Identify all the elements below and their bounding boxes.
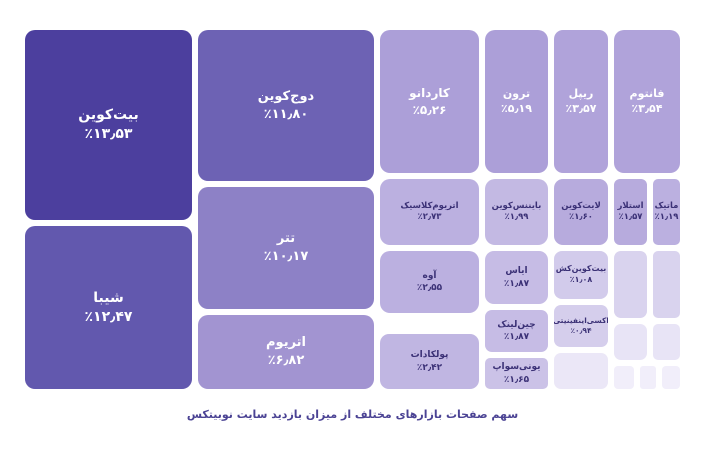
tile-label: بایننس‌کوین <box>492 201 542 212</box>
tile-value: ٪۱۲٫۴۷ <box>85 308 133 327</box>
treemap-tile[interactable]: بایننس‌کوین٪۱٫۹۹ <box>485 179 548 245</box>
tile-label: بیت‌کوین <box>78 106 139 125</box>
tile-value: ٪۱۰٫۱۷ <box>264 248 309 266</box>
tile-value: ٪۲٫۵۵ <box>417 282 442 294</box>
treemap-tile-unlabeled[interactable] <box>614 251 647 318</box>
tile-label: کاردانو <box>409 85 450 101</box>
tile-label: ماتیک <box>655 201 679 212</box>
tile-value: ٪۱٫۶۰ <box>569 212 593 223</box>
tile-value: ٪۶٫۸۲ <box>268 352 305 370</box>
tile-label: ترون <box>503 87 530 102</box>
tile-value: ٪۵٫۲۶ <box>413 102 447 118</box>
tile-label: فانتوم <box>630 87 665 102</box>
tile-value: ٪۱٫۸۷ <box>504 331 529 343</box>
tile-value: ٪۳٫۵۴ <box>632 102 663 117</box>
treemap-tile[interactable]: اتریوم٪۶٫۸۲ <box>198 315 374 389</box>
treemap-tile-unlabeled[interactable] <box>614 366 634 389</box>
treemap-tile[interactable]: بیت‌کوین‌کش٪۱٫۰۸ <box>554 251 608 299</box>
treemap-tile[interactable]: دوج‌کوین٪۱۱٫۸۰ <box>198 30 374 181</box>
tile-value: ٪۱٫۱۹ <box>655 212 679 223</box>
treemap-tile[interactable]: شیبا٪۱۲٫۴۷ <box>25 226 192 389</box>
treemap-tile[interactable]: تتر٪۱۰٫۱۷ <box>198 187 374 309</box>
treemap-tile-unlabeled[interactable] <box>554 353 608 389</box>
tile-label: اتریوم‌کلاسیک <box>400 201 458 212</box>
treemap-tile[interactable]: ایاس٪۱٫۸۷ <box>485 251 548 304</box>
tile-label: چین‌لینک <box>497 319 535 331</box>
tile-value: ٪۲٫۷۳ <box>418 212 442 223</box>
treemap-tile[interactable]: یونی‌سواپ٪۱٫۶۵ <box>485 358 548 389</box>
treemap-tile[interactable]: استلار٪۱٫۵۷ <box>614 179 647 245</box>
tile-value: ٪۵٫۱۹ <box>501 102 532 117</box>
treemap-tile[interactable]: اتریوم‌کلاسیک٪۲٫۷۳ <box>380 179 479 245</box>
tile-value: ٪۰٫۹۴ <box>570 326 591 336</box>
treemap-canvas: بیت‌کوین٪۱۳٫۵۳شیبا٪۱۲٫۴۷دوج‌کوین٪۱۱٫۸۰تت… <box>0 0 705 400</box>
tile-value: ٪۳٫۵۷ <box>566 102 597 117</box>
tile-label: دوج‌کوین <box>258 88 314 106</box>
treemap-tile-unlabeled[interactable] <box>653 324 680 360</box>
treemap-tile-unlabeled[interactable] <box>614 324 647 360</box>
tile-label: ریپل <box>569 87 594 102</box>
treemap-tile[interactable]: ریپل٪۳٫۵۷ <box>554 30 608 173</box>
tile-value: ٪۱٫۶۵ <box>504 374 529 386</box>
treemap-visualization: بیت‌کوین٪۱۳٫۵۳شیبا٪۱۲٫۴۷دوج‌کوین٪۱۱٫۸۰تت… <box>0 0 705 458</box>
tile-label: شیبا <box>93 289 123 308</box>
treemap-tile[interactable]: بیت‌کوین٪۱۳٫۵۳ <box>25 30 192 220</box>
tile-value: ٪۲٫۴۲ <box>417 362 442 374</box>
tile-value: ٪۱٫۹۹ <box>505 212 529 223</box>
tile-label: آوه <box>423 270 437 282</box>
tile-value: ٪۱۳٫۵۳ <box>85 125 133 144</box>
treemap-tile-unlabeled[interactable] <box>653 251 680 318</box>
treemap-tile[interactable]: کاردانو٪۵٫۲۶ <box>380 30 479 173</box>
tile-label: استلار <box>617 201 643 212</box>
tile-value: ٪۱٫۵۷ <box>619 212 643 223</box>
tile-label: اکسی‌اینفینیتی <box>554 316 608 326</box>
treemap-tile[interactable]: پولکادات٪۲٫۴۲ <box>380 334 479 389</box>
tile-value: ٪۱٫۰۸ <box>570 275 593 286</box>
treemap-tile[interactable]: فانتوم٪۳٫۵۴ <box>614 30 680 173</box>
tile-label: پولکادات <box>411 349 449 361</box>
tile-label: یونی‌سواپ <box>492 361 540 373</box>
treemap-tile[interactable]: آوه٪۲٫۵۵ <box>380 251 479 313</box>
treemap-tile[interactable]: ماتیک٪۱٫۱۹ <box>653 179 680 245</box>
tile-value: ٪۱٫۸۷ <box>504 278 529 290</box>
treemap-tile-unlabeled[interactable] <box>662 366 680 389</box>
treemap-tile[interactable]: اکسی‌اینفینیتی٪۰٫۹۴ <box>554 305 608 347</box>
tile-label: اتریوم <box>266 334 306 352</box>
tile-label: تتر <box>277 230 295 248</box>
tile-value: ٪۱۱٫۸۰ <box>264 106 309 124</box>
chart-caption: سهم صفحات بازارهای مختلف از میزان بازدید… <box>0 408 705 421</box>
treemap-tile-unlabeled[interactable] <box>640 366 656 389</box>
treemap-tile[interactable]: ترون٪۵٫۱۹ <box>485 30 548 173</box>
tile-label: بیت‌کوین‌کش <box>556 264 607 275</box>
tile-label: ایاس <box>505 265 527 277</box>
treemap-tile[interactable]: چین‌لینک٪۱٫۸۷ <box>485 310 548 352</box>
treemap-tile[interactable]: لایت‌کوین٪۱٫۶۰ <box>554 179 608 245</box>
tile-label: لایت‌کوین <box>561 201 601 212</box>
